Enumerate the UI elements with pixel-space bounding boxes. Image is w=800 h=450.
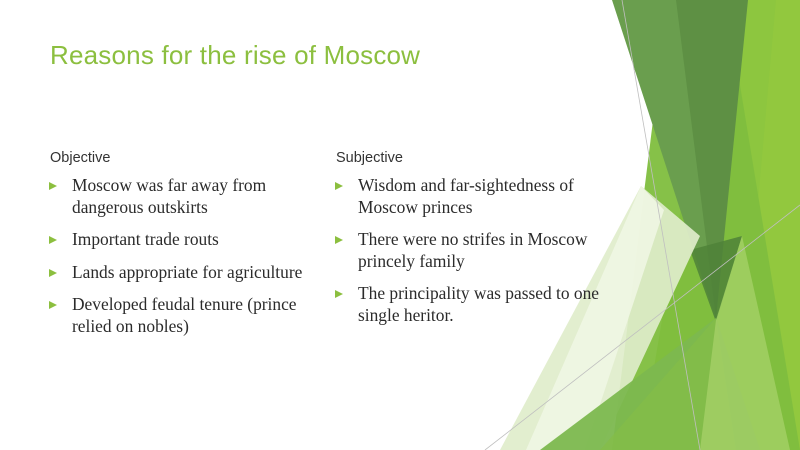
list-item-text: There were no strifes in Moscow princely…: [358, 229, 616, 272]
list-item: Important trade routs: [44, 229, 330, 250]
list-item-text: Important trade routs: [72, 229, 330, 250]
list-item: Moscow was far away from dangerous outsk…: [44, 175, 330, 218]
decor-shape-medium-lower-2: [600, 318, 736, 450]
list-item-text: Developed feudal tenure (prince relied o…: [72, 294, 330, 337]
list-item: There were no strifes in Moscow princely…: [330, 229, 616, 272]
list-item: Lands appropriate for agriculture: [44, 262, 330, 283]
slide-title: Reasons for the rise of Moscow: [50, 40, 570, 71]
green-triangle-bullet-icon: [49, 236, 57, 244]
column-heading-subjective: Subjective: [336, 150, 616, 167]
decor-shape-light-right: [700, 236, 790, 450]
bullet-list-objective: Moscow was far away from dangerous outsk…: [44, 175, 330, 337]
list-item: The principality was passed to one singl…: [330, 283, 616, 326]
green-triangle-bullet-icon: [335, 182, 343, 190]
decor-shape-dark-olive-top-2: [676, 0, 748, 318]
green-triangle-bullet-icon: [49, 301, 57, 309]
list-item-text: The principality was passed to one singl…: [358, 283, 616, 326]
list-item-text: Lands appropriate for agriculture: [72, 262, 330, 283]
list-item-text: Moscow was far away from dangerous outsk…: [72, 175, 330, 218]
content-column-objective: Objective Moscow was far away from dange…: [44, 150, 330, 337]
decor-shape-right-bright-2: [736, 0, 800, 450]
bullet-list-subjective: Wisdom and far-sightedness of Moscow pri…: [330, 175, 616, 326]
column-heading-objective: Objective: [50, 150, 330, 167]
green-triangle-bullet-icon: [335, 236, 343, 244]
content-column-subjective: Subjective Wisdom and far-sightedness of…: [330, 150, 616, 326]
decor-shape-dark-olive-overlap: [690, 236, 742, 322]
decor-hairline-steep: [622, 0, 700, 450]
list-item: Wisdom and far-sightedness of Moscow pri…: [330, 175, 616, 218]
decor-shape-medium-lower: [540, 318, 760, 450]
decor-shape-mid-bright: [612, 0, 800, 450]
green-triangle-bullet-icon: [49, 182, 57, 190]
list-item: Developed feudal tenure (prince relied o…: [44, 294, 330, 337]
green-triangle-bullet-icon: [49, 269, 57, 277]
list-item-text: Wisdom and far-sightedness of Moscow pri…: [358, 175, 616, 218]
decor-shape-dark-olive-top: [612, 0, 746, 320]
presentation-slide: Reasons for the rise of Moscow Objective…: [0, 0, 800, 450]
decor-shape-right-bright: [640, 0, 800, 450]
green-triangle-bullet-icon: [335, 290, 343, 298]
